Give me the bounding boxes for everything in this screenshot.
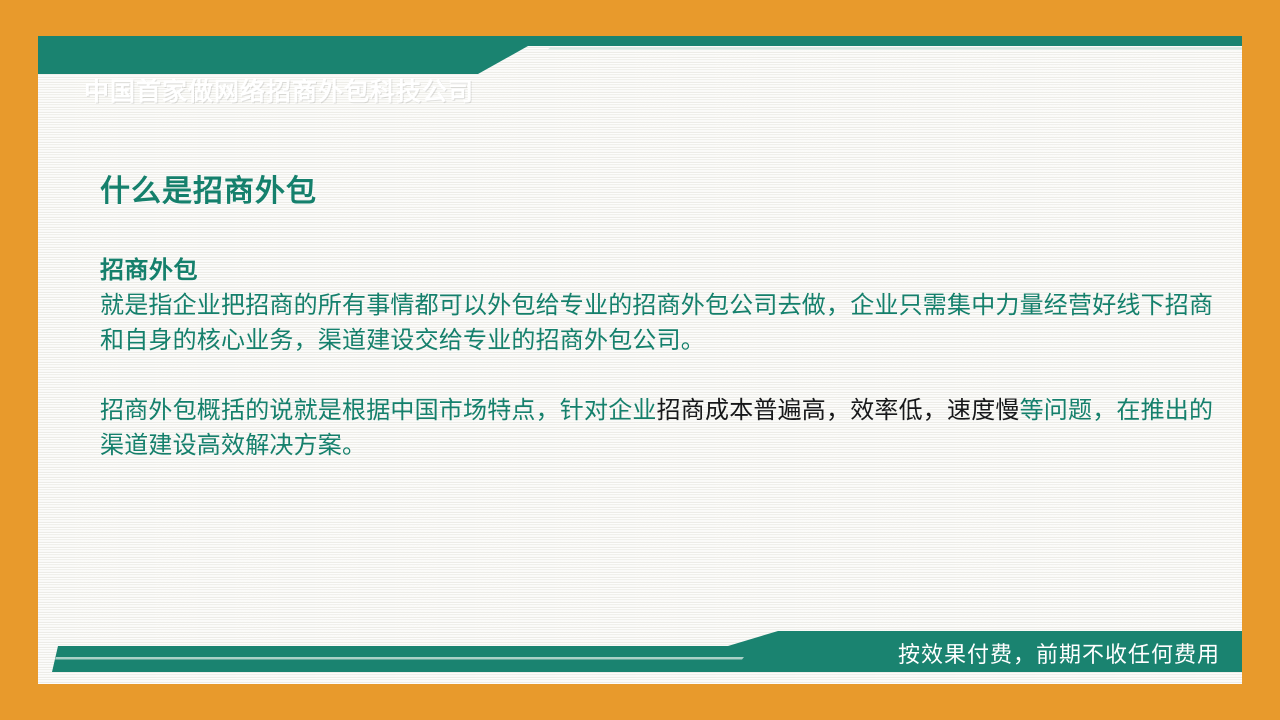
paragraph-spacer xyxy=(100,359,1230,393)
lead-term: 招商外包 xyxy=(100,256,1230,286)
summary-text-lead: 招商外包概括的说就是根据中国市场特点，针对企业 xyxy=(100,397,657,424)
paragraph-definition: 就是指企业把招商的所有事情都可以外包给专业的招商外包公司去做，企业只需集中力量经… xyxy=(100,288,1230,359)
header-title: 中国首家做网络招商外包科技公司 xyxy=(84,80,474,105)
main-content: 什么是招商外包 招商外包 就是指企业把招商的所有事情都可以外包给专业的招商外包公… xyxy=(100,174,1230,463)
paragraph-summary: 招商外包概括的说就是根据中国市场特点，针对企业招商成本普遍高，效率低，速度慢等问… xyxy=(100,393,1230,464)
header-hairline xyxy=(548,48,1242,50)
summary-text-highlight: 招商成本普遍高，效率低，速度慢 xyxy=(657,397,1020,424)
header-shape-main xyxy=(38,36,1242,74)
content-panel: 中国首家做网络招商外包科技公司 什么是招商外包 招商外包 就是指企业把招商的所有… xyxy=(38,36,1242,684)
footer-hairline xyxy=(55,657,744,660)
footer-tagline: 按效果付费，前期不收任何费用 xyxy=(898,644,1220,666)
slide-root: 中国首家做网络招商外包科技公司 什么是招商外包 招商外包 就是指企业把招商的所有… xyxy=(0,0,1280,720)
section-title: 什么是招商外包 xyxy=(100,174,1230,210)
header-shape-thin xyxy=(38,36,1242,44)
header-banner xyxy=(38,36,1242,82)
